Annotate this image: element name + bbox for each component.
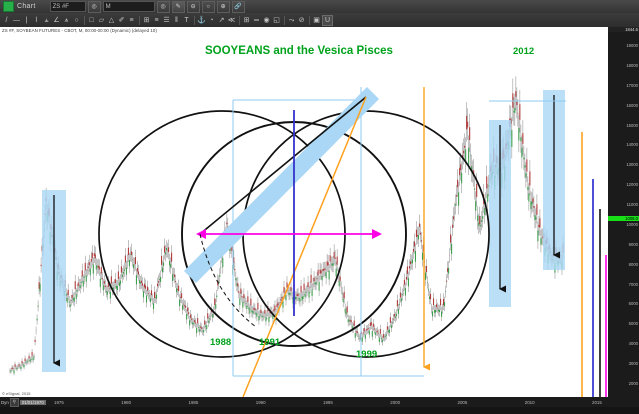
time-axis-controls[interactable]: Dyn ⚲ 01/01/1970	[0, 398, 46, 407]
current-price-tag: 1008.0	[608, 216, 639, 221]
arrow-marker-tool[interactable]: ≪	[227, 15, 236, 26]
price-tick: 14000	[626, 142, 638, 147]
flat-bands-tool[interactable]: ═	[252, 15, 261, 26]
price-tick: 19000	[626, 43, 638, 48]
magenta-arrow-tail	[196, 229, 206, 239]
price-tick: 15000	[626, 123, 638, 128]
diagonal-highlight-band	[190, 93, 373, 277]
drawing-toolbar: /—|⌇⫨∠⩚○□▱△✐≡⊞≡☰‖T⚓◔↗≪⊞═◉◱⤳⊘▣U	[0, 13, 639, 28]
price-bars	[10, 76, 563, 375]
link-icon[interactable]: 🔗	[232, 1, 245, 13]
vesica-circle-left	[99, 111, 345, 357]
magnifier-icon[interactable]: ⚲	[10, 398, 19, 407]
circle-marker-tool[interactable]: ◉	[262, 15, 271, 26]
pitchfork-tool[interactable]: ⫨	[42, 15, 51, 26]
time-tick: 2010	[525, 400, 535, 405]
time-tick: 1995	[323, 400, 333, 405]
price-tick: 16000	[626, 103, 638, 108]
fib-retracement-tool[interactable]: ≡	[127, 15, 136, 26]
orange-diagonal-line	[243, 97, 366, 397]
highlight-band-2008	[489, 120, 511, 307]
price-tick: 10000	[626, 222, 638, 227]
rectangle-tool[interactable]: □	[87, 15, 96, 26]
parallelogram-tool[interactable]: ▱	[97, 15, 106, 26]
regression-tool[interactable]: ↗	[217, 15, 226, 26]
chart-header-label: ZS #F, SOYBEAN FUTURES - CBOT, M, 00:00-…	[2, 28, 157, 33]
copyright-label: © eSignal, 2015	[2, 391, 31, 396]
triangle-tool[interactable]: △	[107, 15, 116, 26]
horizontal-line-tool[interactable]: —	[12, 15, 21, 26]
text-tool[interactable]: T	[182, 15, 191, 26]
toolbar-separator	[139, 16, 140, 25]
cycle-lines-tool[interactable]: ‖	[172, 15, 181, 26]
time-tick: 1980	[121, 400, 131, 405]
price-tick: 7000	[629, 282, 638, 287]
date-range-selector[interactable]: 01/01/1970	[20, 400, 46, 405]
toolbar-separator	[309, 16, 310, 25]
dyn-label: Dyn	[0, 400, 9, 405]
time-tick: 2000	[390, 400, 400, 405]
price-tick: 11000	[627, 202, 638, 207]
trend-line-tool[interactable]: /	[2, 15, 11, 26]
toolbar-separator	[284, 16, 285, 25]
price-tick: 9000	[629, 242, 638, 247]
black-diagonal-line	[200, 97, 366, 234]
price-tick: 6000	[629, 301, 638, 306]
time-tick: 1975	[54, 400, 64, 405]
price-axis[interactable]: 1844.61900018000170001600015000140001300…	[608, 27, 639, 397]
price-tick: 18000	[626, 63, 638, 68]
eraser-tool[interactable]: ⊘	[297, 15, 306, 26]
price-last-tag: 1844.6	[608, 27, 639, 32]
price-tick: 3000	[629, 361, 638, 366]
time-axis[interactable]: Dyn ⚲ 01/01/1970 19751980198519901995200…	[0, 397, 639, 407]
price-tick: 12000	[626, 182, 638, 187]
undo-lock-tool[interactable]: U	[322, 15, 333, 26]
channel-tool[interactable]: ◱	[272, 15, 281, 26]
gann-box-tool[interactable]: ⊞	[142, 15, 151, 26]
anchor-note-tool[interactable]: ⚓	[197, 15, 206, 26]
vesica-circle-right	[243, 111, 489, 357]
price-tick: 17000	[626, 83, 638, 88]
toolbar-separator	[84, 16, 85, 25]
pencil-icon[interactable]: ✎	[172, 1, 185, 13]
chart-icon	[3, 1, 14, 12]
chart-application-window: Chart ZS #F ◎ M ◎ ✎ ⊖ ○ ⊕ 🔗 /—|⌇⫨∠⩚○□▱△✐…	[0, 0, 639, 414]
chart-title-annotation: SOOYEANS and the Vesica Pisces	[205, 45, 393, 57]
status-bar	[0, 407, 639, 414]
price-tick: 4000	[629, 341, 638, 346]
time-tick: 2005	[458, 400, 468, 405]
angle-tool[interactable]: ∠	[52, 15, 61, 26]
chart-canvas[interactable]: ZS #F, SOYBEAN FUTURES - CBOT, M, 00:00-…	[0, 27, 608, 397]
highlight-band-2012	[543, 90, 565, 270]
highlight-band-1988	[42, 190, 66, 372]
price-tick: 2000	[629, 381, 638, 386]
vertical-line-tool[interactable]: |	[22, 15, 31, 26]
plus-circle-icon[interactable]: ⊕	[217, 1, 230, 13]
symbol-search-icon[interactable]: ◎	[88, 1, 101, 13]
polyline-tool[interactable]: ⌇	[32, 15, 41, 26]
year-label-2012: 2012	[513, 46, 534, 57]
time-tick: 1985	[189, 400, 199, 405]
chart-overlay-svg	[0, 27, 608, 397]
toolbar-separator	[239, 16, 240, 25]
window-title-bar: Chart ZS #F ◎ M ◎ ✎ ⊖ ○ ⊕ 🔗	[0, 0, 639, 14]
clock-icon[interactable]: ◎	[157, 1, 170, 13]
zigzag-tool[interactable]: ⤳	[287, 15, 296, 26]
toolbar-separator	[194, 16, 195, 25]
ellipse-tool[interactable]: ○	[72, 15, 81, 26]
symbol-interval-controls: ZS #F ◎ M ◎ ✎ ⊖ ○ ⊕ 🔗	[50, 1, 245, 13]
level-bands-tool[interactable]: ☰	[162, 15, 171, 26]
minus-circle-icon[interactable]: ⊖	[187, 1, 200, 13]
year-label-1988: 1988	[210, 337, 231, 348]
brush-tool[interactable]: ✐	[117, 15, 126, 26]
time-tick: 2015	[592, 400, 602, 405]
dashed-arc	[200, 234, 256, 327]
zero-circle-icon[interactable]: ○	[202, 1, 215, 13]
year-label-1999: 1999	[356, 349, 377, 360]
magnet-tool[interactable]: ▣	[312, 15, 321, 26]
magenta-arrow-head	[372, 229, 382, 239]
window-title: Chart	[17, 3, 36, 10]
balloon-tool[interactable]: ◔	[207, 15, 216, 26]
fib-fan-tool[interactable]: ⩚	[62, 15, 71, 26]
grid-tool[interactable]: ⊞	[242, 15, 251, 26]
price-tick: 5000	[629, 321, 638, 326]
year-label-1991: 1991	[259, 337, 280, 348]
interval-input[interactable]: M	[103, 1, 155, 12]
horizontal-levels-tool[interactable]: ≡	[152, 15, 161, 26]
symbol-input[interactable]: ZS #F	[50, 1, 86, 12]
price-tick: 8000	[629, 262, 638, 267]
time-tick: 1990	[256, 400, 266, 405]
price-tick: 13000	[626, 162, 638, 167]
vesica-inner-circle	[182, 122, 406, 346]
